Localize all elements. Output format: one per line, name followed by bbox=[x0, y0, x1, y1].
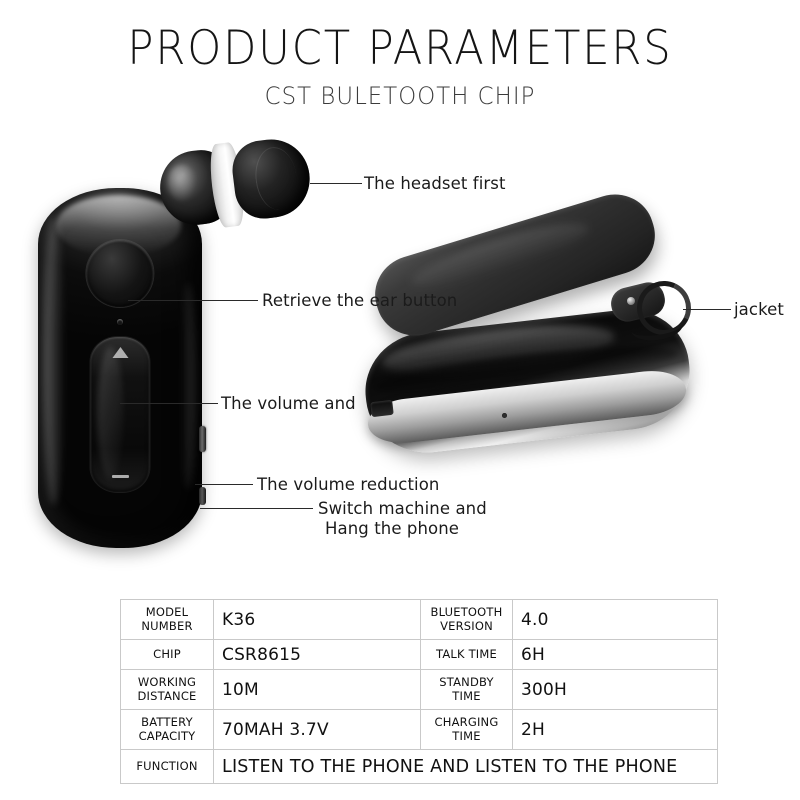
callout-switch-machine-line1: Switch machine and bbox=[318, 499, 487, 519]
side-switch-button bbox=[199, 426, 206, 452]
page-header: PRODUCT PARAMETERS CST BULETOOTH CHIP bbox=[0, 0, 800, 110]
callout-switch-machine-line2: Hang the phone bbox=[325, 519, 459, 539]
leader-line-headset-first bbox=[310, 183, 362, 184]
hinge-pin-icon bbox=[627, 297, 635, 305]
cell-key-bluetooth-version: BLUETOOTHVERSION bbox=[421, 600, 513, 640]
led-indicator-icon bbox=[117, 319, 123, 325]
gloss-highlight-right bbox=[181, 282, 196, 491]
cell-value-function: LISTEN TO THE PHONE AND LISTEN TO THE PH… bbox=[214, 750, 718, 784]
spec-table: MODELNUMBER K36 BLUETOOTHVERSION 4.0 CHI… bbox=[120, 599, 718, 784]
cell-key-battery-capacity: BATTERYCAPACITY bbox=[121, 710, 214, 750]
cell-value-talk-time: 6H bbox=[513, 640, 718, 670]
gloss-highlight-rocker bbox=[98, 347, 124, 480]
callout-jacket: jacket bbox=[734, 300, 784, 320]
cell-key-model-number: MODELNUMBER bbox=[121, 600, 214, 640]
leader-line-jacket bbox=[683, 309, 731, 310]
cell-value-charging-time: 2H bbox=[513, 710, 718, 750]
callout-headset-first: The headset first bbox=[364, 174, 506, 194]
table-row: BATTERYCAPACITY 70MAH 3.7V CHARGING TIME… bbox=[121, 710, 718, 750]
cell-value-chip: CSR8615 bbox=[214, 640, 421, 670]
gloss-highlight-clip-arm bbox=[407, 212, 593, 296]
table-row-function: FUNCTION LISTEN TO THE PHONE AND LISTEN … bbox=[121, 750, 718, 784]
device-front-view bbox=[38, 188, 202, 548]
device-shell bbox=[38, 188, 202, 548]
table-row: MODELNUMBER K36 BLUETOOTHVERSION 4.0 bbox=[121, 600, 718, 640]
page-subtitle: CST BULETOOTH CHIP bbox=[20, 73, 780, 110]
cell-value-model-number: K36 bbox=[214, 600, 421, 640]
clip-hinge-assembly bbox=[607, 271, 685, 343]
microphone-hole-icon bbox=[502, 413, 507, 418]
leader-line-volume-reduction bbox=[195, 484, 253, 485]
cell-value-working-distance: 10M bbox=[214, 670, 421, 710]
retrieve-ear-button bbox=[86, 240, 153, 307]
cell-key-working-distance: WORKINGDISTANCE bbox=[121, 670, 214, 710]
table-row: WORKINGDISTANCE 10M STANDBY TIME 300H bbox=[121, 670, 718, 710]
leader-line-volume-and bbox=[120, 403, 218, 404]
leader-line-switch-machine bbox=[200, 508, 313, 509]
cell-value-bluetooth-version: 4.0 bbox=[513, 600, 718, 640]
page-title: PRODUCT PARAMETERS bbox=[32, 0, 768, 73]
volume-rocker-button bbox=[90, 337, 149, 492]
cell-value-standby-time: 300H bbox=[513, 670, 718, 710]
product-photo-stage: The headset first Retrieve the ear butto… bbox=[0, 130, 800, 570]
cell-key-chip: CHIP bbox=[121, 640, 214, 670]
cell-value-battery-capacity: 70MAH 3.7V bbox=[214, 710, 421, 750]
callout-volume-reduction: The volume reduction bbox=[257, 475, 440, 495]
callout-retrieve-ear-button: Retrieve the ear button bbox=[262, 291, 457, 311]
volume-up-icon bbox=[112, 347, 128, 358]
gloss-highlight-left bbox=[43, 217, 64, 505]
volume-down-icon bbox=[112, 475, 129, 478]
leader-line-retrieve-ear bbox=[128, 300, 258, 301]
device-back-view-with-clip bbox=[355, 215, 700, 475]
usb-charging-port bbox=[370, 400, 394, 417]
cell-key-function: FUNCTION bbox=[121, 750, 214, 784]
cell-key-charging-time: CHARGING TIME bbox=[421, 710, 513, 750]
cell-key-talk-time: TALK TIME bbox=[421, 640, 513, 670]
earbud bbox=[155, 129, 315, 239]
callout-volume-and: The volume and bbox=[221, 394, 356, 414]
table-row: CHIP CSR8615 TALK TIME 6H bbox=[121, 640, 718, 670]
cell-key-standby-time: STANDBY TIME bbox=[421, 670, 513, 710]
side-power-button bbox=[199, 487, 206, 505]
